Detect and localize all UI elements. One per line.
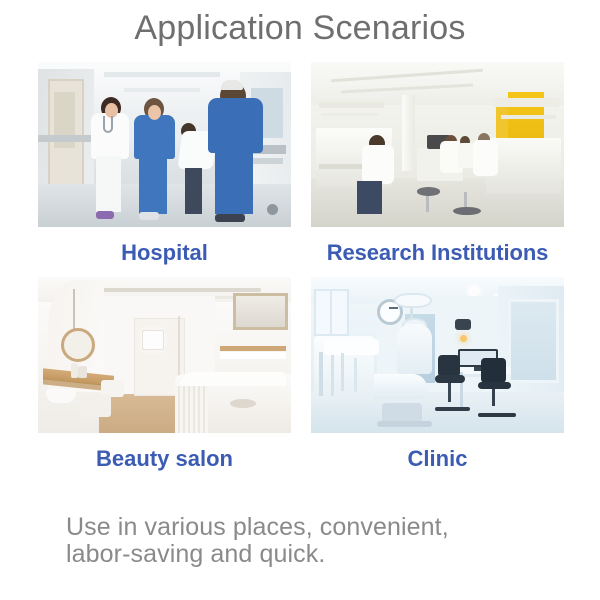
blurb-line-1: Use in various places, convenient, (66, 514, 586, 541)
page-title: Application Scenarios (0, 6, 600, 50)
scenario-label-research: Research Institutions (311, 227, 564, 268)
scenario-card-salon[interactable]: Beauty salon (38, 277, 291, 492)
scenario-label-salon: Beauty salon (38, 433, 291, 474)
scenario-row-bottom: Beauty salon (38, 277, 564, 492)
scenario-label-clinic: Clinic (311, 433, 564, 474)
scenario-row-top: Hospital (38, 62, 564, 277)
hospital-photo (38, 62, 291, 227)
scenario-blurb: Use in various places, convenient, labor… (66, 514, 586, 568)
application-scenarios-page: Application Scenarios (0, 0, 600, 600)
research-photo (311, 62, 564, 227)
salon-photo (38, 277, 291, 433)
scenario-grid: Hospital (38, 62, 564, 492)
scenario-card-clinic[interactable]: Clinic (311, 277, 564, 492)
scenario-label-hospital: Hospital (38, 227, 291, 268)
scenario-card-hospital[interactable]: Hospital (38, 62, 291, 277)
blurb-line-2: labor-saving and quick. (66, 541, 586, 568)
scenario-card-research[interactable]: Research Institutions (311, 62, 564, 277)
clinic-photo (311, 277, 564, 433)
